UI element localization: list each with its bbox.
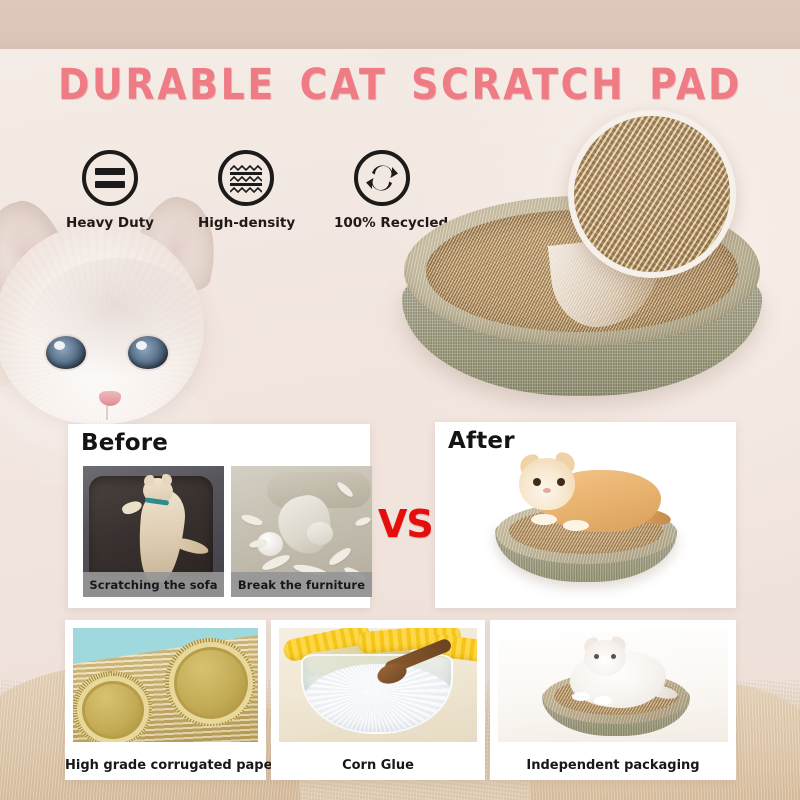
white-cat-eye-right [611,654,616,659]
packaging-image [498,628,728,742]
after-cat-paw-right [563,520,589,531]
zigzag-row-3 [230,187,262,193]
cat-eye-right [128,336,168,369]
paper-roll-front [77,676,149,742]
white-cat-paw-left [572,692,590,701]
paper-roll-back [169,642,253,724]
cat-head [0,224,204,424]
cat-mouth [106,406,114,420]
after-cat-eye-right [557,478,565,486]
after-cat-eye-left [533,478,541,486]
before-title: Before [81,430,168,456]
material-card-packaging: Independent packaging [490,620,736,780]
thumb-caption: Break the furniture [231,572,372,597]
zoom-detail-circle [568,110,736,278]
shredding-cat-head [307,522,333,545]
density-line-2 [230,183,262,186]
before-thumb-furniture: Break the furniture [231,466,372,597]
white-cat-eye-left [594,654,599,659]
white-cat-head [584,640,626,676]
high-density-icon [218,150,274,206]
bar-bottom [95,181,125,188]
corn-glue-image [279,628,477,742]
product-marketing-image: DURABLE CAT SCRATCH PAD Heavy Duty [0,0,800,800]
scratching-cat-ear-left [144,475,154,486]
after-cat-head [519,458,575,510]
feature-badge-high-density: High-density [198,150,294,231]
after-product-scene [435,422,736,608]
before-panel: Before Scratching the sofa [68,424,370,608]
material-card-corrugated-paper: High grade corrugated paper [65,620,266,780]
feature-badge-label: Heavy Duty [62,215,158,231]
zigzag-row-2 [230,176,262,182]
vs-label: VS [378,502,433,546]
page-title: DURABLE CAT SCRATCH PAD [48,60,752,110]
material-card-caption: Independent packaging [490,758,736,773]
corrugated-paper-image [73,628,258,742]
feature-badge-heavy-duty: Heavy Duty [62,150,158,231]
shred-piece [327,545,353,568]
material-card-caption: High grade corrugated paper [65,758,266,773]
density-line-1 [230,172,262,175]
after-cat-nose [543,488,551,493]
background-cat-photo [0,196,228,432]
before-thumb-sofa: Scratching the sofa [83,466,224,597]
thumb-caption: Scratching the sofa [83,572,224,597]
top-color-band [0,0,800,49]
cat-eye-left [46,336,86,369]
after-cat-paw-left [531,514,557,525]
after-panel: After [435,422,736,608]
material-card-corn-glue: Corn Glue [271,620,485,780]
white-cat-paw-right [594,696,612,705]
scratching-cat-ear-right [162,474,172,485]
recycle-arrows [365,161,399,195]
feature-badge-list: Heavy Duty High-density [62,150,430,231]
bar-top [95,168,125,175]
material-card-caption: Corn Glue [271,758,485,773]
feature-badge-label: High-density [198,215,294,231]
hero-product-image [402,196,762,414]
zigzag-row-1 [230,165,262,171]
glass-bowl [301,654,453,734]
shred-piece [354,515,371,527]
heavy-duty-icon [82,150,138,206]
shred-piece [240,513,263,527]
